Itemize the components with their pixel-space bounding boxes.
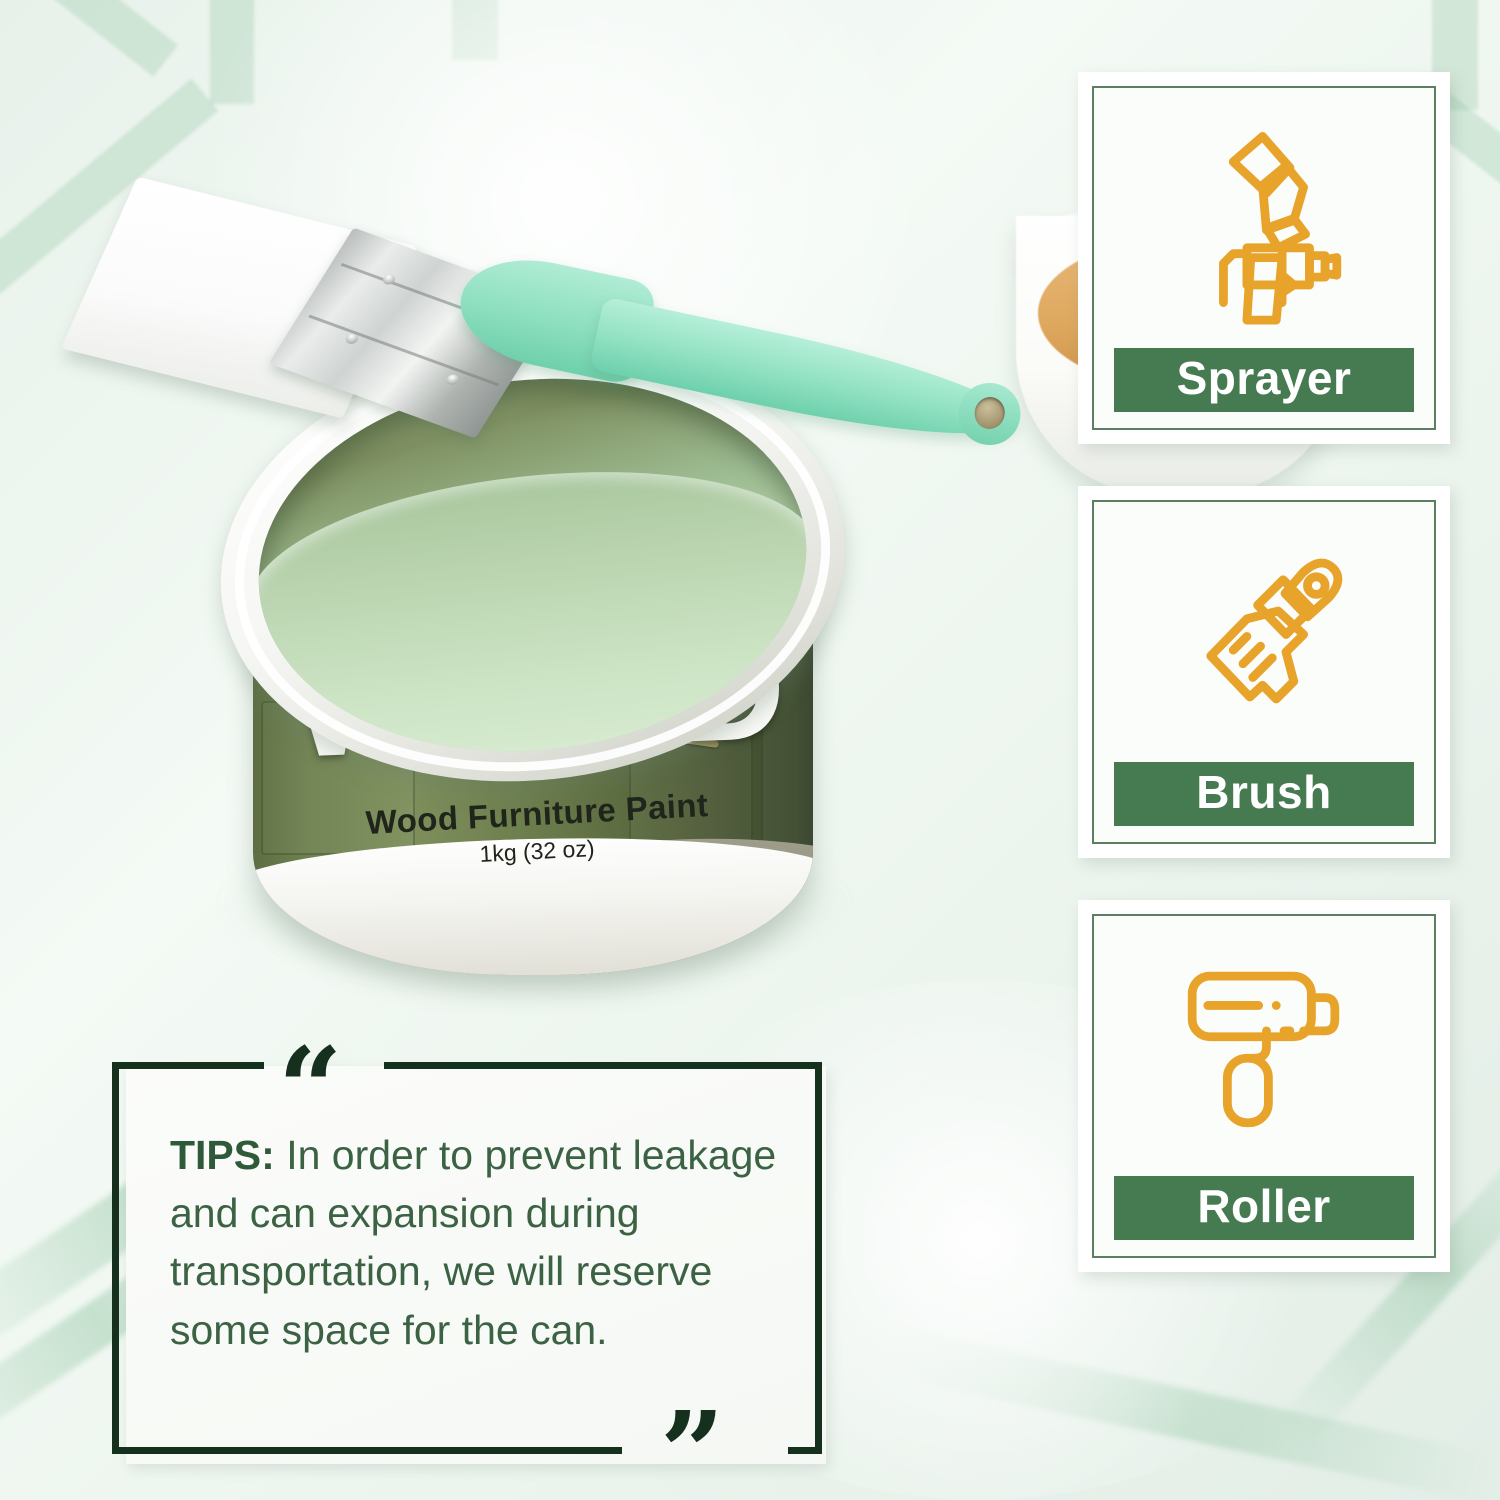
chevron-shape: [0, 0, 178, 77]
card-inner-border: Sprayer: [1092, 86, 1436, 430]
tips-text: TIPS: In order to prevent leakage and ca…: [170, 1126, 780, 1359]
tips-callout: “ ” TIPS: In order to prevent leakage an…: [112, 1048, 824, 1466]
method-card-brush[interactable]: Brush: [1078, 486, 1450, 858]
card-label-roller: Roller: [1114, 1176, 1413, 1240]
card-label-sprayer: Sprayer: [1114, 348, 1413, 412]
frame-top-right: [384, 1062, 822, 1069]
frame-left: [112, 1062, 119, 1454]
paint-roller-icon: [1094, 916, 1434, 1176]
paint-brush-icon: [1094, 502, 1434, 762]
card-inner-border: Roller: [1092, 914, 1436, 1258]
card-inner-border: Brush: [1092, 500, 1436, 844]
frame-bottom-right: [788, 1447, 822, 1454]
card-label-brush: Brush: [1114, 762, 1413, 826]
method-card-roller[interactable]: Roller: [1078, 900, 1450, 1272]
ferrule-rivet: [343, 332, 359, 345]
brush-handle: [450, 242, 1060, 474]
frame-right: [815, 1062, 822, 1454]
frame-bottom-left: [112, 1447, 622, 1454]
paint-can: Dwil WOOD Wood Furniture Paint 1kg (32 o…: [175, 175, 875, 1015]
product-infographic: Dwil WOOD Wood Furniture Paint 1kg (32 o…: [0, 0, 1500, 1500]
handle-grip: [589, 296, 1025, 458]
method-card-sprayer[interactable]: Sprayer: [1078, 72, 1450, 444]
tips-label: TIPS:: [170, 1132, 275, 1178]
spray-gun-icon: [1094, 88, 1434, 348]
ferrule-rivet: [445, 373, 461, 386]
quote-close-icon: ”: [660, 1398, 724, 1500]
frame-top-left: [112, 1062, 264, 1069]
paint-brush: [95, 195, 995, 525]
